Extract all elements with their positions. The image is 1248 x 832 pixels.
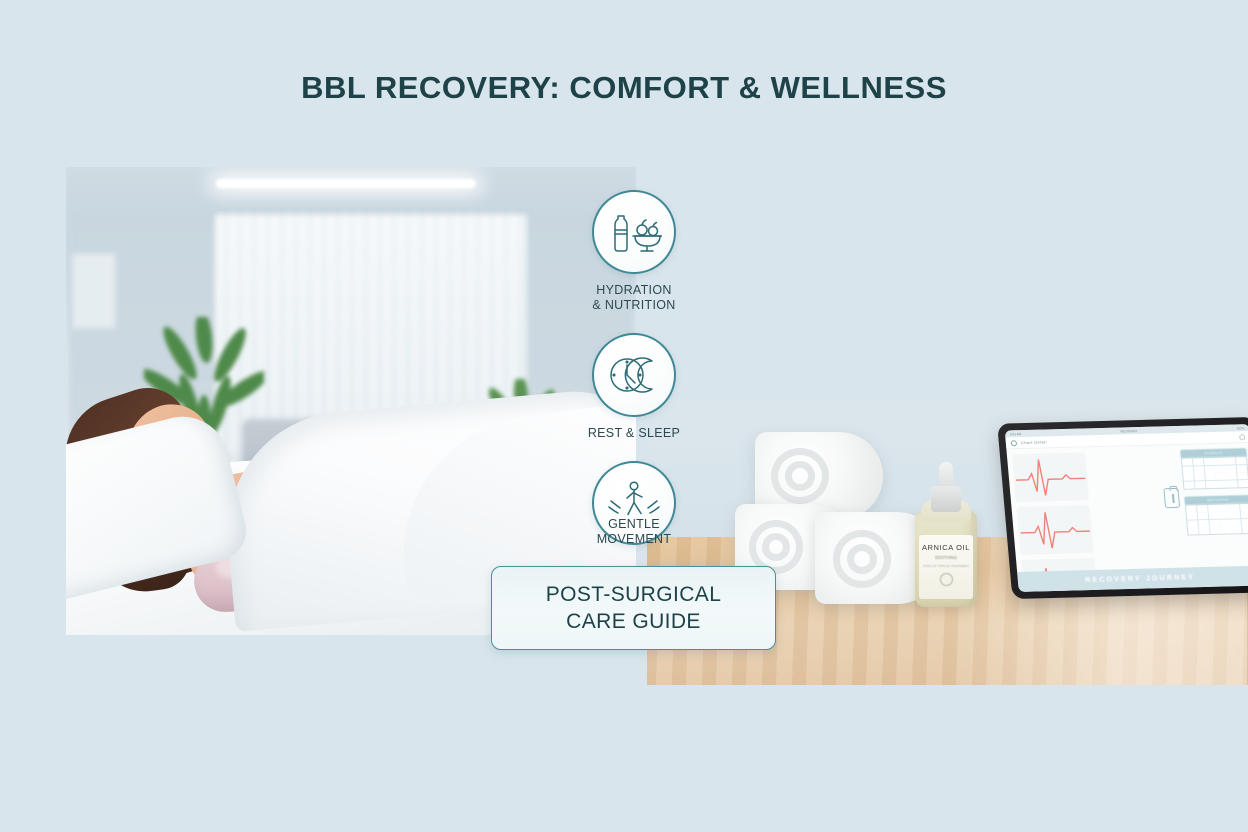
clock-and-moon-icon <box>592 333 676 417</box>
feature-rest-sleep[interactable]: REST & SLEEP <box>586 333 682 441</box>
calendar-schedule-grid[interactable] <box>1181 456 1248 489</box>
feature-movement-label: GENTLE MOVEMENT <box>586 517 682 547</box>
tablet-footer-text: RECOVERY JOURNEY <box>1085 574 1196 584</box>
heart-rate-chart-2[interactable] <box>1016 505 1093 555</box>
bottle-cap <box>931 486 961 512</box>
status-time: 9:41 AM <box>1010 432 1021 436</box>
water-bottle-and-fruit-bowl-icon <box>592 190 676 274</box>
app-logo-icon <box>1011 440 1018 446</box>
arnica-oil-bottle: ARNICA OIL SOOTHING POST-OP TOPICAL TREA… <box>915 472 977 607</box>
bottle-seal-icon <box>940 573 953 586</box>
banner-line-2: CARE GUIDE <box>566 608 701 635</box>
feature-hydration-label: HYDRATION & NUTRITION <box>586 283 682 313</box>
calendar-medication[interactable]: MEDICATION <box>1184 494 1248 535</box>
feature-gentle-movement[interactable]: GENTLE MOVEMENT <box>586 461 682 547</box>
page-title: BBL RECOVERY: COMFORT & WELLNESS <box>0 70 1248 106</box>
tablet-dashboard: SCHEDULE MEDICATION <box>1006 443 1248 555</box>
calendar-column: SCHEDULE MEDICATION <box>1180 448 1248 545</box>
bottle-label-sub: SOOTHING <box>919 555 973 560</box>
ceiling-light <box>216 179 476 188</box>
ecg-chart-grid <box>1012 451 1163 550</box>
status-battery: 100% <box>1237 426 1245 430</box>
tablet-screen[interactable]: 9:41 AM RECOVERY 100% Chart Detail <box>1005 424 1248 592</box>
calendar-medication-grid[interactable] <box>1185 502 1248 535</box>
bottle-label: ARNICA OIL SOOTHING POST-OP TOPICAL TREA… <box>919 535 973 599</box>
bottle-label-fine: POST-OP TOPICAL TREATMENT <box>919 564 973 568</box>
bottle-label-title: ARNICA OIL <box>919 543 973 552</box>
feature-rest-label: REST & SLEEP <box>586 426 682 441</box>
recovery-position-illustration <box>66 167 636 635</box>
heart-rate-chart-1[interactable] <box>1012 452 1089 502</box>
calendar-schedule[interactable]: SCHEDULE <box>1180 448 1248 489</box>
app-title: Chart Detail <box>1021 439 1047 445</box>
post-surgical-care-guide-banner[interactable]: POST-SURGICAL CARE GUIDE <box>491 566 776 650</box>
gear-icon[interactable] <box>1239 434 1246 440</box>
status-center: RECOVERY <box>1120 429 1137 433</box>
feature-hydration-nutrition[interactable]: HYDRATION & NUTRITION <box>586 190 682 313</box>
banner-line-1: POST-SURGICAL <box>546 581 722 608</box>
wall-picture-frame <box>71 252 117 330</box>
ceiling <box>66 167 636 209</box>
pill-bottle-icon[interactable] <box>1163 488 1180 508</box>
calendar-medication-header: MEDICATION <box>1184 494 1248 504</box>
tablet-device[interactable]: 9:41 AM RECOVERY 100% Chart Detail <box>997 417 1248 599</box>
